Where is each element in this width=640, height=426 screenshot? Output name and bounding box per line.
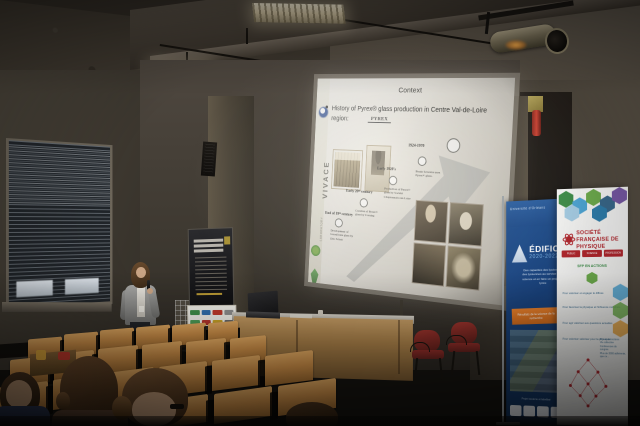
wall-speaker-icon xyxy=(201,142,217,177)
presenter-face xyxy=(136,267,146,278)
conduit-drop xyxy=(246,28,248,44)
sponsor-logo-row xyxy=(190,309,233,316)
grid-photo xyxy=(414,200,448,244)
timeline-label: 1924-1970 xyxy=(408,143,424,148)
banner-tab: PUBLIC xyxy=(562,250,581,257)
window-with-blinds xyxy=(6,138,112,311)
slide-sidebar-sublabel: LABORATORY xyxy=(319,200,324,241)
presenter-shirt xyxy=(137,287,145,317)
ceiling-light-fixture xyxy=(252,3,346,24)
sponsor-logo xyxy=(201,310,210,315)
spotlight-glow xyxy=(505,40,527,50)
timeline-description: Production of Pyrex® glass by Société Ch… xyxy=(384,187,413,201)
banner-societe-francaise-de-physique: SOCIÉTÉ FRANÇAISE DE PHYSIQUE PUBLIC SCI… xyxy=(557,187,628,426)
banner-tab: PROFESSION xyxy=(604,249,623,256)
window-light-gap xyxy=(16,280,52,297)
advert-figure xyxy=(371,151,385,176)
desk-panel-seam xyxy=(398,320,400,374)
presenter-badge xyxy=(139,306,144,312)
window-sill xyxy=(2,302,112,312)
timeline-description: Bouin Sevestre uses Pyrex® glass. xyxy=(415,169,445,179)
audience-head xyxy=(6,380,32,408)
sponsor-logo xyxy=(212,310,221,315)
projection-screen: VIVACE LABORATORY Context History of Pyr… xyxy=(308,78,515,306)
seat-back[interactable] xyxy=(212,355,260,391)
grid-photo xyxy=(448,202,484,247)
object-on-table xyxy=(36,350,46,360)
poster-body xyxy=(188,227,235,306)
partner-icon xyxy=(510,405,521,416)
seat-divider xyxy=(205,366,212,395)
seat-divider xyxy=(258,360,265,389)
timeline-label: End of 19ᵗʰ century xyxy=(325,210,353,217)
slide-logo-secondary-icon xyxy=(311,245,321,257)
banner-section-title: SFP EN ACTIONS xyxy=(557,264,628,269)
slide-bullet-text: History of Pyrex® glass production in Ce… xyxy=(331,103,500,127)
chair-armrest xyxy=(446,335,467,345)
bullet-dot-icon xyxy=(326,106,328,108)
banner-section-hex-icon xyxy=(587,272,598,284)
seat-back[interactable] xyxy=(265,350,313,386)
speaker-grill xyxy=(203,144,215,175)
historic-photo-image xyxy=(334,152,361,188)
poster-title-block xyxy=(194,239,224,253)
presenter-hand xyxy=(147,288,153,294)
poster-accent-mark xyxy=(224,236,230,244)
hex-icon xyxy=(613,302,628,319)
chair-armrest xyxy=(410,342,430,352)
audience-ponytail xyxy=(56,392,70,410)
slide-photo-grid xyxy=(412,200,482,289)
lecture-hall-photo: VIVACE LABORATORY Context History of Pyr… xyxy=(0,0,640,426)
object-on-table xyxy=(58,352,70,360)
banner-top-label: Université d'Orléans xyxy=(510,206,545,212)
banner-title: SOCIÉTÉ FRANÇAISE DE PHYSIQUE xyxy=(576,229,626,251)
edifice-logo-icon xyxy=(512,244,527,262)
paper-sheet xyxy=(290,314,312,319)
grid-photo xyxy=(412,242,446,286)
fire-extinguisher-icon xyxy=(532,110,541,136)
banner-network-graphic xyxy=(567,356,610,411)
poster-highlight-bar xyxy=(197,293,223,296)
laptop-keyboard[interactable] xyxy=(246,311,280,318)
banner-tab-row: PUBLIC SCIENCE PROFESSION xyxy=(562,249,623,257)
slide-bullet-label: History of Pyrex® glass production in Ce… xyxy=(331,104,487,122)
sfp-logo-icon xyxy=(563,232,576,246)
window-light-gap xyxy=(65,278,99,295)
banner-highlight-label: Résultats de la science de la recherche xyxy=(512,307,561,325)
light-grill xyxy=(252,3,346,24)
banner-years: 2020-2022 xyxy=(529,253,559,260)
foreground-shadow xyxy=(0,416,640,426)
projected-slide: VIVACE LABORATORY Context History of Pyr… xyxy=(308,78,515,306)
banner-hex-band xyxy=(557,187,628,223)
sponsor-logo xyxy=(190,310,199,315)
slide-title: Context xyxy=(398,86,422,95)
banner-footer-label: Projet soutenu et labellisé xyxy=(509,397,564,402)
banner-pole xyxy=(502,196,504,424)
poster-text-lines xyxy=(195,257,227,292)
banner-photo-collage xyxy=(510,330,563,393)
cup xyxy=(318,310,323,316)
timeline-label: Early 1920's xyxy=(377,166,396,172)
historic-photo xyxy=(331,149,363,191)
banner-highlight-band: Résultats de la science de la recherche xyxy=(512,307,561,325)
hex-icon xyxy=(613,284,628,301)
banner-tab: SCIENCE xyxy=(582,250,601,257)
grid-photo xyxy=(446,246,482,291)
eyeglasses-icon xyxy=(170,404,184,409)
timeline-description: Development of borosilicate glass by Ott… xyxy=(330,229,357,243)
hex-icon xyxy=(586,189,601,207)
blinds-highlight xyxy=(9,146,110,205)
